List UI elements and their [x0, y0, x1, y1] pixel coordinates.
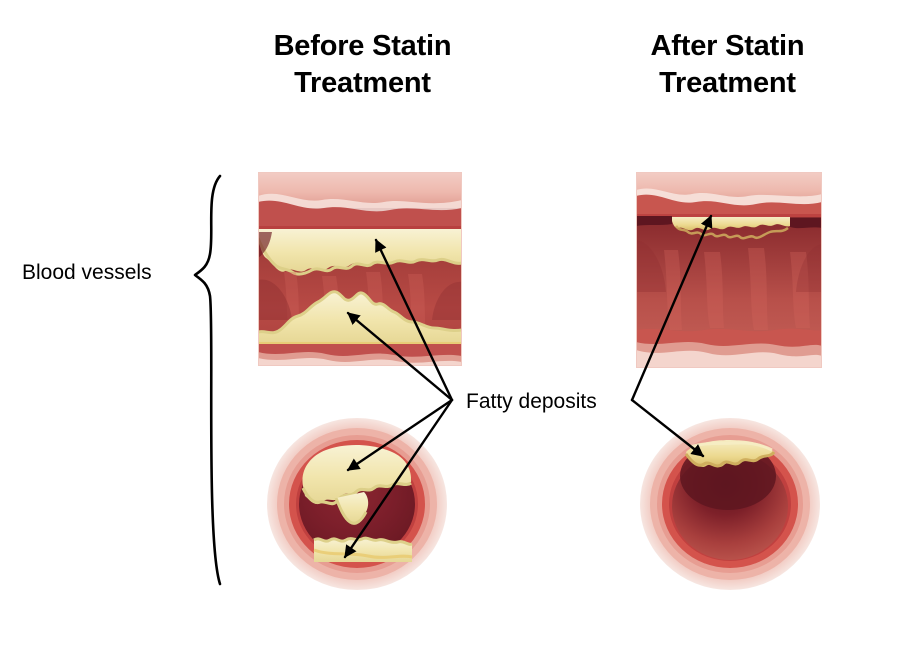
label-fatty-deposits: Fatty deposits	[466, 390, 597, 414]
panel-before-longitudinal	[258, 172, 462, 366]
vessel-illustrations	[0, 0, 900, 648]
panel-before-cross-section	[267, 418, 447, 590]
panel-after-cross-section	[640, 418, 820, 590]
figure-canvas: Before Statin Treatment After Statin Tre…	[0, 0, 900, 648]
label-blood-vessels: Blood vessels	[22, 261, 152, 285]
panel-after-longitudinal	[636, 172, 822, 368]
